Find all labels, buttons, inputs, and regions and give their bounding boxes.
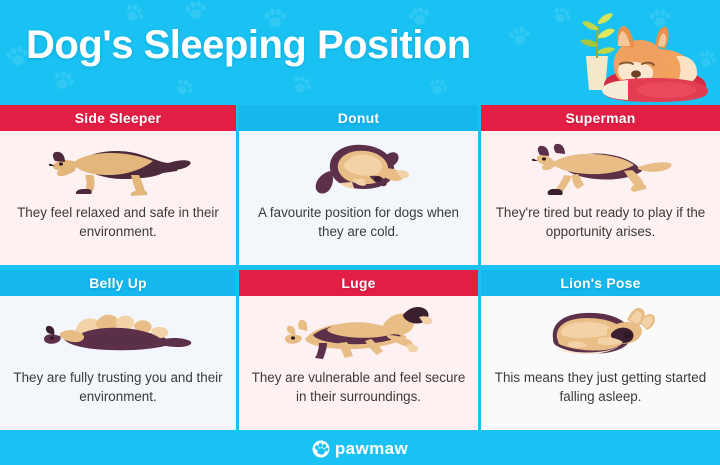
card-row-2: Belly Up xyxy=(0,270,720,430)
dog-belly-up-illustration xyxy=(0,300,236,366)
card-donut[interactable]: Donut xyxy=(239,105,478,265)
card-lions-pose[interactable]: Lion's Pose xyxy=(481,270,720,430)
card-caption-side-sleeper: They feel relaxed and safe in their envi… xyxy=(10,203,226,241)
card-body-lions-pose: This means they just getting started fal… xyxy=(481,296,720,430)
card-title-superman: Superman xyxy=(481,105,720,131)
poster-footer: pawmaw xyxy=(0,433,720,465)
card-caption-belly-up: They are fully trusting you and their en… xyxy=(10,368,226,406)
card-body-superman: They're tired but ready to play if the o… xyxy=(481,131,720,265)
dog-superman-sprawl-illustration xyxy=(481,135,720,201)
card-title-donut: Donut xyxy=(239,105,478,131)
card-row-1: Side Sleeper xyxy=(0,105,720,265)
card-belly-up[interactable]: Belly Up xyxy=(0,270,236,430)
card-side-sleeper[interactable]: Side Sleeper xyxy=(0,105,236,265)
card-caption-luge: They are vulnerable and feel secure in t… xyxy=(249,368,468,406)
card-title-lions-pose: Lion's Pose xyxy=(481,270,720,296)
card-grid: Side Sleeper xyxy=(0,103,720,433)
dog-luge-illustration xyxy=(239,300,478,366)
card-caption-superman: They're tired but ready to play if the o… xyxy=(491,203,710,241)
poster-header: Dog's Sleeping Position xyxy=(0,0,720,103)
card-caption-lions-pose: This means they just getting started fal… xyxy=(491,368,710,406)
card-superman[interactable]: Superman xyxy=(481,105,720,265)
paw-circle-icon xyxy=(312,440,330,458)
sleeping-corgi-illustration xyxy=(556,6,716,102)
page-title: Dog's Sleeping Position xyxy=(26,22,471,68)
card-caption-donut: A favourite position for dogs when they … xyxy=(249,203,468,241)
card-body-luge: They are vulnerable and feel secure in t… xyxy=(239,296,478,430)
dog-donut-curl-illustration xyxy=(239,135,478,201)
infographic-poster: Dog's Sleeping Position xyxy=(0,0,720,465)
card-body-donut: A favourite position for dogs when they … xyxy=(239,131,478,265)
dog-lion-pose-illustration xyxy=(481,300,720,366)
pawmaw-logo[interactable]: pawmaw xyxy=(312,440,408,458)
pawmaw-brand-text: pawmaw xyxy=(335,440,408,458)
card-title-belly-up: Belly Up xyxy=(0,270,236,296)
dog-side-sleeper-illustration xyxy=(0,135,236,201)
card-luge[interactable]: Luge xyxy=(239,270,478,430)
card-body-side-sleeper: They feel relaxed and safe in their envi… xyxy=(0,131,236,265)
card-body-belly-up: They are fully trusting you and their en… xyxy=(0,296,236,430)
card-title-side-sleeper: Side Sleeper xyxy=(0,105,236,131)
card-title-luge: Luge xyxy=(239,270,478,296)
